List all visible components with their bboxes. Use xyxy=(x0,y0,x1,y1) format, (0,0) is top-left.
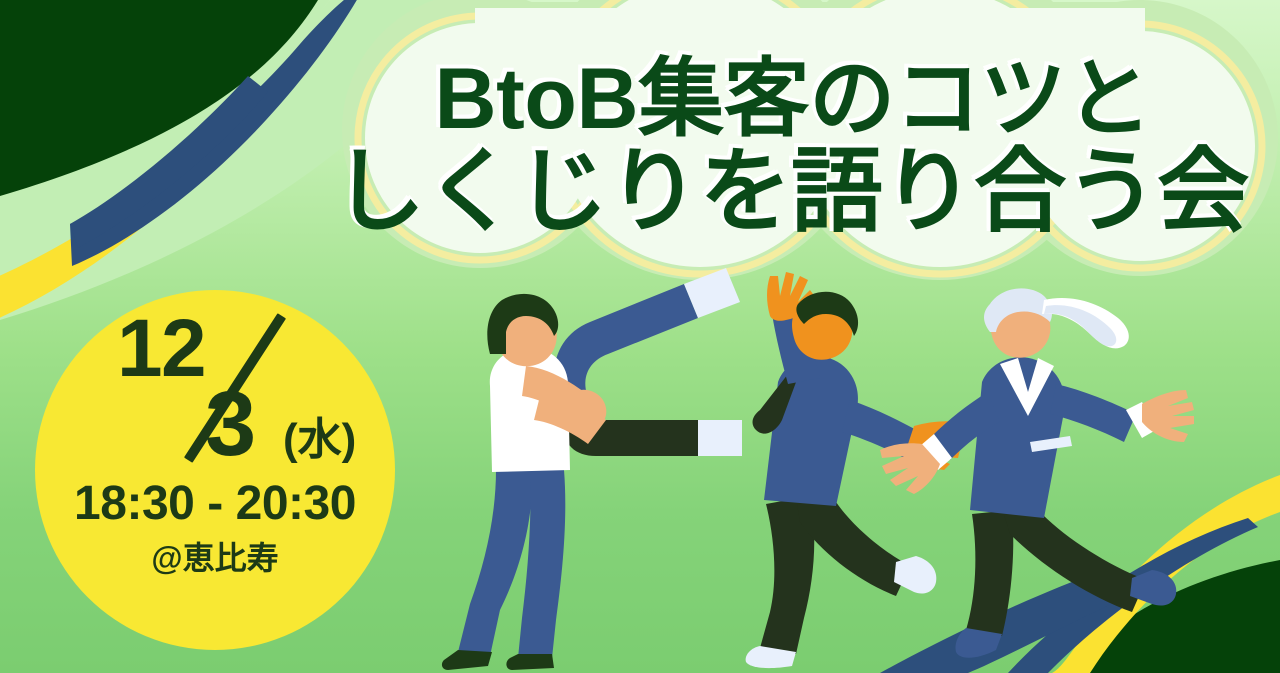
top-left-yellow-ribbon xyxy=(0,52,306,322)
date-row: 12 3 (水) xyxy=(65,306,365,486)
woman-shoe-back xyxy=(442,650,492,670)
person-leg-front xyxy=(1002,508,1146,612)
date-badge: 12 3 (水) 18:30 - 20:30 @恵比寿 xyxy=(35,290,395,650)
magnet-tip-lower xyxy=(698,420,742,456)
top-left-navy-ribbon-tail xyxy=(70,76,268,248)
person-leg-back xyxy=(966,510,1013,636)
title-line-2: しくじりを語り合う会 xyxy=(308,146,1268,238)
title-line-1: BtoB集客のコツと xyxy=(308,56,1268,142)
woman-shoe-front xyxy=(506,654,554,670)
top-left-light-green-band xyxy=(0,0,330,250)
woman-with-magnet xyxy=(442,268,742,670)
title-block: BtoB集客のコツと しくじりを語り合う会 xyxy=(308,56,1268,238)
event-banner: [data-name="cloud-inner-white"] circle,[… xyxy=(0,0,1280,673)
top-left-dark-green-blob xyxy=(0,0,318,196)
event-time: 18:30 - 20:30 xyxy=(74,480,356,528)
woman-hand xyxy=(570,390,606,428)
event-day-of-week: (水) xyxy=(283,418,356,462)
event-place: @恵比寿 xyxy=(151,542,278,574)
person-hand-right xyxy=(1142,390,1194,442)
people-illustration xyxy=(430,270,1220,673)
running-person-ponytail xyxy=(880,288,1194,657)
man-shoe-front xyxy=(894,556,936,594)
event-day: 3 xyxy=(205,378,254,470)
person-arm-right xyxy=(1050,384,1136,442)
